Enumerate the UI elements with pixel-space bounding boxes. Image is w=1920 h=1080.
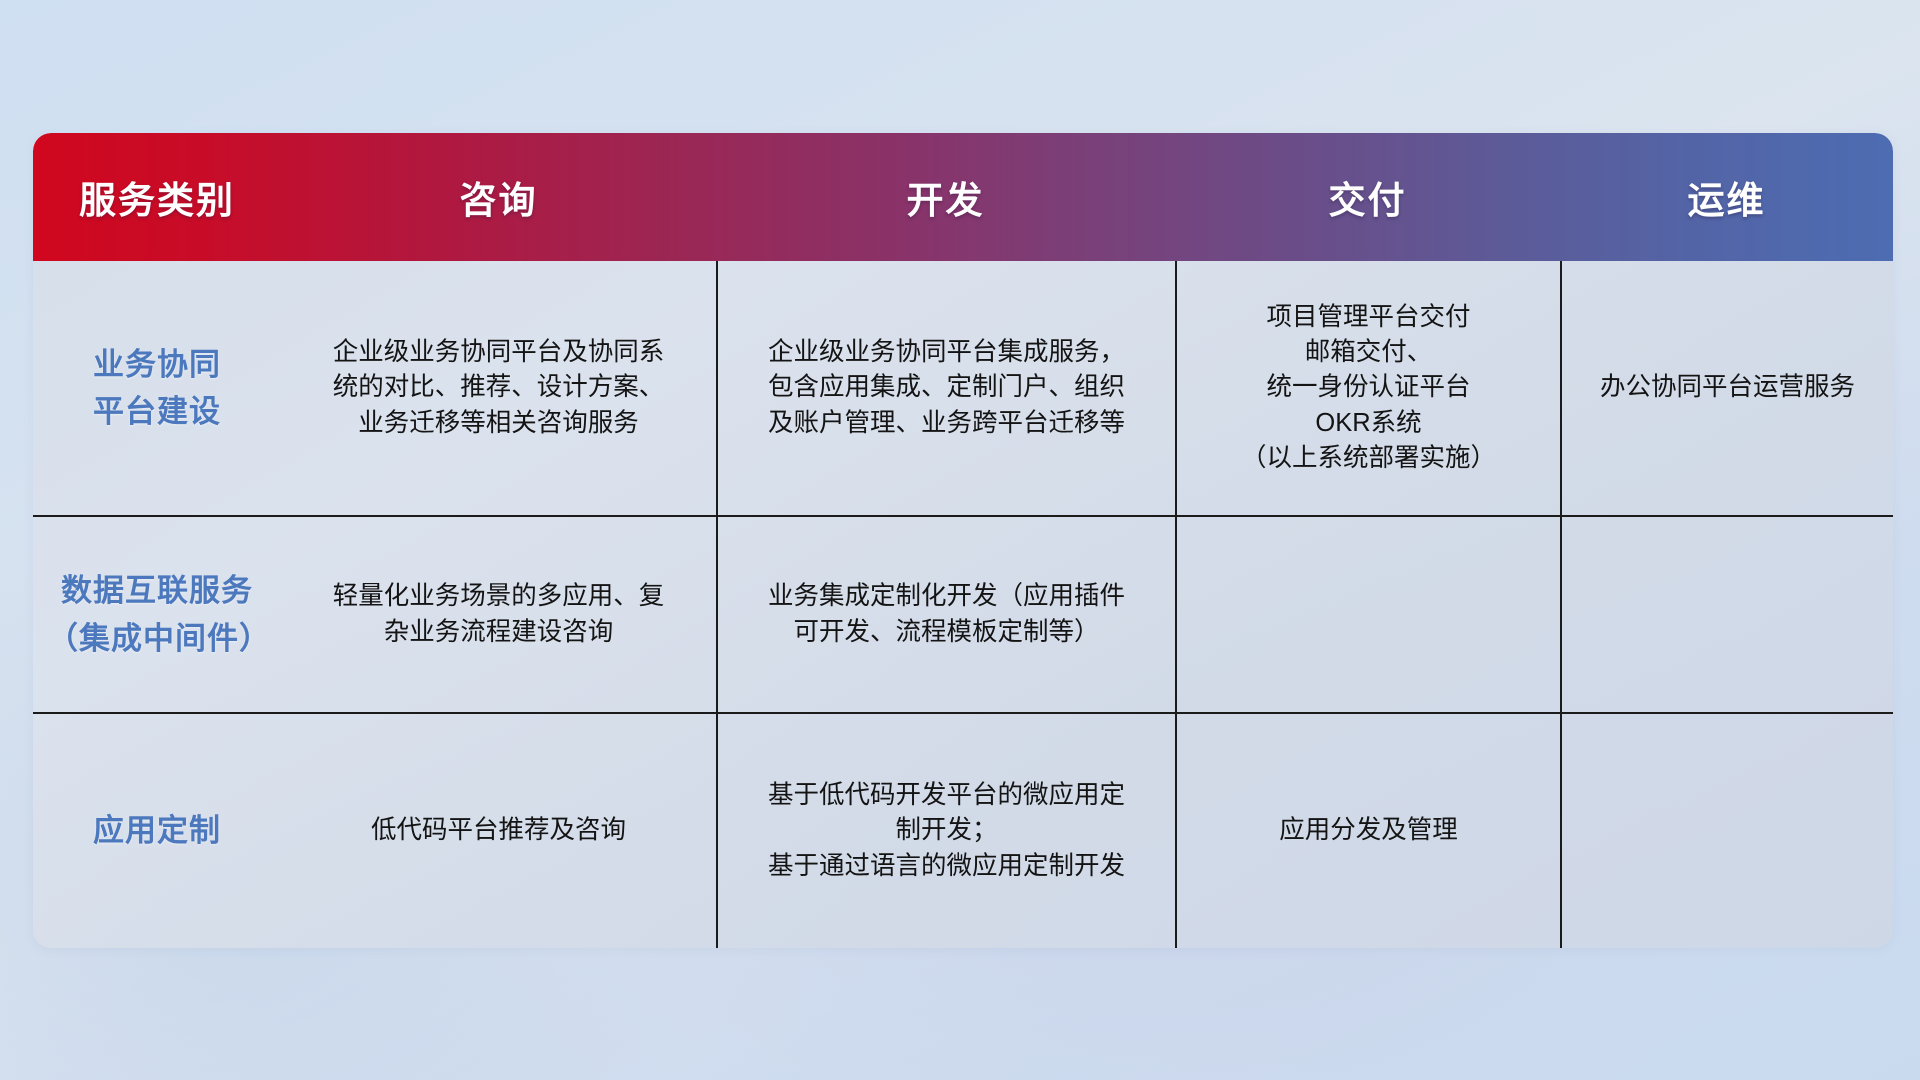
table-row: 业务协同 平台建设 企业级业务协同平台及协同系 统的对比、推荐、设计方案、 业务… <box>33 261 1893 515</box>
column-header-consulting: 咨询 <box>281 170 716 224</box>
row-category-label: 业务协同 平台建设 <box>33 261 281 515</box>
table-row: 应用定制 低代码平台推荐及咨询 基于低代码开发平台的微应用定 制开发； 基于通过… <box>33 712 1893 948</box>
cell-delivery: 项目管理平台交付 邮箱交付、 统一身份认证平台 OKR系统 （以上系统部署实施） <box>1175 261 1560 515</box>
table-row: 数据互联服务 （集成中间件） 轻量化业务场景的多应用、复 杂业务流程建设咨询 业… <box>33 515 1893 712</box>
cell-delivery: 应用分发及管理 <box>1175 714 1560 948</box>
cell-development: 企业级业务协同平台集成服务， 包含应用集成、定制门户、组织 及账户管理、业务跨平… <box>716 261 1175 515</box>
service-matrix-table: 服务类别 咨询 开发 交付 运维 业务协同 平台建设 企业级业务协同平台及协同系… <box>33 133 1893 948</box>
cell-development: 基于低代码开发平台的微应用定 制开发； 基于通过语言的微应用定制开发 <box>716 714 1175 948</box>
column-header-category: 服务类别 <box>33 170 281 224</box>
row-category-label: 数据互联服务 （集成中间件） <box>33 517 281 712</box>
cell-operations <box>1560 517 1893 712</box>
column-header-delivery: 交付 <box>1175 170 1560 224</box>
cell-operations: 办公协同平台运营服务 <box>1560 261 1893 515</box>
table-body: 业务协同 平台建设 企业级业务协同平台及协同系 统的对比、推荐、设计方案、 业务… <box>33 261 1893 948</box>
column-header-operations: 运维 <box>1560 170 1893 224</box>
cell-operations <box>1560 714 1893 948</box>
cell-development: 业务集成定制化开发（应用插件 可开发、流程模板定制等） <box>716 517 1175 712</box>
column-header-development: 开发 <box>716 170 1175 224</box>
cell-consulting: 企业级业务协同平台及协同系 统的对比、推荐、设计方案、 业务迁移等相关咨询服务 <box>281 261 716 515</box>
cell-delivery <box>1175 517 1560 712</box>
slide-canvas: 服务类别 咨询 开发 交付 运维 业务协同 平台建设 企业级业务协同平台及协同系… <box>0 0 1920 1080</box>
cell-consulting: 轻量化业务场景的多应用、复 杂业务流程建设咨询 <box>281 517 716 712</box>
row-category-label: 应用定制 <box>33 714 281 948</box>
table-header-row: 服务类别 咨询 开发 交付 运维 <box>33 133 1893 261</box>
cell-consulting: 低代码平台推荐及咨询 <box>281 714 716 948</box>
